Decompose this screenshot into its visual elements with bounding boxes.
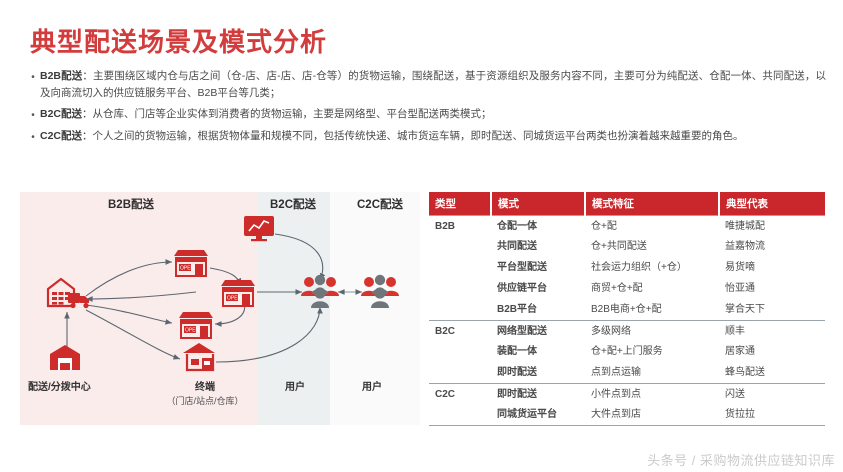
- cell-rep: 顺丰: [719, 321, 825, 342]
- store-open-icon-top: OPEN: [172, 248, 210, 278]
- bullet-body-text: ：个人之间的货物运输，根据货物体量和规模不同，包括传统快递、城市货运车辆，即时配…: [82, 130, 744, 142]
- user-group-icon-c2c: [361, 274, 399, 308]
- cell-type: C2C: [429, 384, 491, 405]
- cell-feature: 大件点到店: [585, 405, 719, 426]
- cell-type: [429, 237, 491, 258]
- cell-rep: 货拉拉: [719, 405, 825, 426]
- table-row: C2C 即时配送 小件点到点 闪送: [429, 384, 825, 405]
- pickup-station-icon: [182, 342, 218, 372]
- distribution-center-truck-icon: [46, 276, 92, 312]
- bullet-body-text: ：主要围绕区域内仓与店之间（仓-店、店-店、店-仓等）的货物运输，围绕配送，基于…: [40, 70, 826, 99]
- bullet-body-text: ：从仓库、门店等企业实体到消费者的货物运输，主要是网络型、平台型配送两类模式；: [82, 108, 492, 120]
- table-row: 即时配送 点到点运输 蜂鸟配送: [429, 363, 825, 384]
- axis-label-main: 配送/分拨中心: [28, 382, 91, 393]
- cell-rep: 居家通: [719, 342, 825, 363]
- column-header-mode: 模式: [491, 192, 585, 216]
- axis-label-main: 用户: [285, 382, 305, 393]
- cell-rep: 易货嘀: [719, 258, 825, 279]
- cell-rep: 怡亚通: [719, 279, 825, 300]
- list-item: • B2B配送：主要围绕区域内仓与店之间（仓-店、店-店、店-仓等）的货物运输，…: [26, 68, 826, 102]
- cell-feature: 商贸+仓+配: [585, 279, 719, 300]
- cell-feature: 小件点到点: [585, 384, 719, 405]
- cell-mode: 仓配一体: [491, 216, 585, 237]
- store-open-icon-bottom: OPEN: [177, 310, 215, 340]
- column-header-type: 类型: [429, 192, 491, 216]
- column-header-rep: 典型代表: [719, 192, 825, 216]
- table-row: 装配一体 仓+配+上门服务 居家通: [429, 342, 825, 363]
- bullet-text: B2C配送：从仓库、门店等企业实体到消费者的货物运输，主要是网络型、平台型配送两…: [40, 106, 826, 123]
- cell-type: [429, 342, 491, 363]
- list-item: • C2C配送：个人之间的货物运输，根据货物体量和规模不同，包括传统快递、城市货…: [26, 128, 826, 146]
- cell-mode: 即时配送: [491, 363, 585, 384]
- cell-rep: 唯捷城配: [719, 216, 825, 237]
- watermark: 头条号 / 采购物流供应链知识库: [647, 450, 835, 469]
- table-row: 供应链平台 商贸+仓+配 怡亚通: [429, 279, 825, 300]
- cell-mode: 同城货运平台: [491, 405, 585, 426]
- cell-feature: 仓+配: [585, 216, 719, 237]
- bullet-text: C2C配送：个人之间的货物运输，根据货物体量和规模不同，包括传统快递、城市货运车…: [40, 128, 826, 145]
- cell-feature: 多级网络: [585, 321, 719, 342]
- table-header-row: 类型 模式 模式特征 典型代表: [429, 192, 825, 216]
- cell-type: [429, 405, 491, 426]
- cell-mode: 共同配送: [491, 237, 585, 258]
- table-row: B2C 网络型配送 多级网络 顺丰: [429, 321, 825, 342]
- cell-mode: B2B平台: [491, 300, 585, 321]
- cell-mode: 网络型配送: [491, 321, 585, 342]
- warehouse-icon: [48, 344, 82, 372]
- modes-table: 类型 模式 模式特征 典型代表 B2B 仓配一体 仓+配 唯捷城配 共同配送 仓…: [429, 192, 825, 426]
- cell-rep: 益嘉物流: [719, 237, 825, 258]
- modes-table-wrapper: 类型 模式 模式特征 典型代表 B2B 仓配一体 仓+配 唯捷城配 共同配送 仓…: [429, 192, 825, 426]
- cell-type: [429, 300, 491, 321]
- cell-feature: B2B电商+仓+配: [585, 300, 719, 321]
- list-item: • B2C配送：从仓库、门店等企业实体到消费者的货物运输，主要是网络型、平台型配…: [26, 106, 826, 124]
- svg-text:OPEN: OPEN: [185, 328, 200, 334]
- cell-feature: 点到点运输: [585, 363, 719, 384]
- cell-type: [429, 279, 491, 300]
- table-row: B2B 仓配一体 仓+配 唯捷城配: [429, 216, 825, 237]
- bullet-marker-icon: •: [26, 106, 40, 124]
- bullet-marker-icon: •: [26, 68, 40, 86]
- cell-mode: 平台型配送: [491, 258, 585, 279]
- bullet-text: B2B配送：主要围绕区域内仓与店之间（仓-店、店-店、店-仓等）的货物运输，围绕…: [40, 68, 826, 102]
- svg-text:OPEN: OPEN: [227, 296, 242, 302]
- table-row: 共同配送 仓+共同配送 益嘉物流: [429, 237, 825, 258]
- table-row: 同城货运平台 大件点到店 货拉拉: [429, 405, 825, 426]
- axis-label-user-c2c: 用户: [345, 378, 399, 393]
- column-header-feature: 模式特征: [585, 192, 719, 216]
- bullet-marker-icon: •: [26, 128, 40, 146]
- axis-label-distribution-center: 配送/分拨中心: [28, 378, 91, 393]
- bullet-list: • B2B配送：主要围绕区域内仓与店之间（仓-店、店-店、店-仓等）的货物运输，…: [26, 68, 826, 150]
- cell-type: B2B: [429, 216, 491, 237]
- page-title: 典型配送场景及模式分析: [30, 28, 327, 58]
- table-row: 平台型配送 社会运力组织（+仓） 易货嘀: [429, 258, 825, 279]
- axis-label-main: 用户: [362, 382, 382, 393]
- cell-type: [429, 258, 491, 279]
- bullet-lead: C2C配送: [40, 130, 82, 142]
- cell-feature: 仓+共同配送: [585, 237, 719, 258]
- cell-rep: 掌合天下: [719, 300, 825, 321]
- axis-label-sub: （门店/站点/仓库）: [160, 394, 250, 407]
- cell-mode: 即时配送: [491, 384, 585, 405]
- axis-label-main: 终端: [195, 382, 215, 393]
- cell-mode: 装配一体: [491, 342, 585, 363]
- store-open-icon-middle: OPEN: [219, 278, 257, 308]
- cell-feature: 社会运力组织（+仓）: [585, 258, 719, 279]
- user-group-icon-b2c: [301, 274, 339, 308]
- monitor-chart-icon: [242, 214, 276, 242]
- cell-type: B2C: [429, 321, 491, 342]
- cell-type: [429, 363, 491, 384]
- svg-text:OPEN: OPEN: [180, 266, 195, 272]
- delivery-flow-diagram: B2B配送 B2C配送 C2C配送: [20, 192, 420, 425]
- bullet-lead: B2C配送: [40, 108, 82, 120]
- slide-canvas: 典型配送场景及模式分析 • B2B配送：主要围绕区域内仓与店之间（仓-店、店-店…: [0, 0, 843, 472]
- cell-mode: 供应链平台: [491, 279, 585, 300]
- axis-label-terminal: 终端 （门店/站点/仓库）: [160, 378, 250, 407]
- table-row: B2B平台 B2B电商+仓+配 掌合天下: [429, 300, 825, 321]
- bullet-lead: B2B配送: [40, 70, 82, 82]
- axis-label-user-b2c: 用户: [268, 378, 322, 393]
- cell-rep: 闪送: [719, 384, 825, 405]
- cell-feature: 仓+配+上门服务: [585, 342, 719, 363]
- cell-rep: 蜂鸟配送: [719, 363, 825, 384]
